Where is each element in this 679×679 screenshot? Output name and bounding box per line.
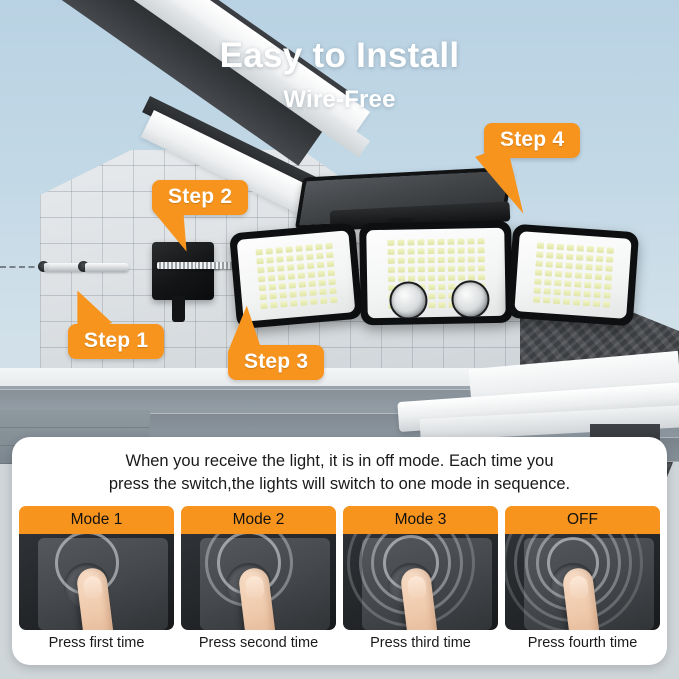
led-chip	[438, 292, 445, 298]
led-chip	[407, 257, 414, 263]
step-3-label: Step 3	[244, 350, 308, 373]
led-chip	[573, 290, 580, 296]
led-chip	[306, 262, 313, 269]
led-chip	[543, 288, 550, 294]
led-chip	[257, 276, 264, 283]
led-chip	[576, 254, 583, 260]
led-chip	[576, 245, 583, 251]
led-chip	[457, 265, 464, 271]
led-chip	[447, 256, 454, 262]
led-chip	[427, 257, 434, 263]
led-chip	[447, 265, 454, 271]
motion-sensor-icon	[389, 281, 428, 318]
led-array-center	[366, 228, 506, 318]
wall-anchor-icon	[85, 263, 129, 272]
led-chip	[387, 257, 394, 263]
led-chip	[478, 274, 485, 280]
led-chip	[299, 290, 306, 297]
mode-tiles: Mode 1 Mode 2	[12, 497, 667, 630]
led-chip	[296, 263, 303, 270]
callout-tail-icon	[230, 304, 272, 354]
step-2-badge: Step 2	[152, 180, 248, 215]
led-chip	[286, 255, 293, 262]
led-chip	[552, 298, 559, 304]
led-chip	[275, 247, 282, 254]
led-chip	[276, 256, 283, 263]
led-chip	[477, 256, 484, 262]
mode-2-caption: Press second time	[181, 635, 336, 651]
step-1-badge: Step 1	[68, 324, 164, 359]
led-chip	[318, 279, 325, 286]
led-chip	[289, 291, 296, 298]
led-chip	[300, 299, 307, 306]
led-chip	[280, 301, 287, 308]
led-chip	[327, 270, 334, 277]
led-chip	[447, 238, 454, 244]
led-chip	[257, 267, 264, 274]
led-chip	[397, 257, 404, 263]
motion-sensor-icon	[451, 280, 490, 318]
led-chip	[438, 274, 445, 280]
off-image	[505, 534, 660, 630]
led-chip	[326, 261, 333, 268]
led-chip	[315, 244, 322, 251]
mode-instruction-panel: When you receive the light, it is in off…	[12, 437, 667, 665]
led-chip	[457, 247, 464, 253]
led-chip	[428, 284, 435, 290]
led-chip	[584, 282, 591, 288]
fingernail	[406, 576, 427, 600]
led-chip	[477, 238, 484, 244]
led-chip	[277, 274, 284, 281]
led-chip	[387, 239, 394, 245]
step-3-badge: Step 3	[228, 345, 324, 380]
led-chip	[269, 293, 276, 300]
led-chip	[398, 275, 405, 281]
led-chip	[572, 299, 579, 305]
led-chip	[574, 281, 581, 287]
led-chip	[306, 253, 313, 260]
led-chip	[553, 289, 560, 295]
off-caption: Press fourth time	[505, 635, 660, 651]
led-chip	[554, 271, 561, 277]
step-4-label: Step 4	[500, 128, 564, 151]
led-chip	[605, 256, 612, 262]
led-chip	[447, 247, 454, 253]
led-chip	[596, 247, 603, 253]
led-chip	[584, 273, 591, 279]
led-chip	[593, 291, 600, 297]
led-chip	[606, 247, 613, 253]
bracket-tab	[172, 296, 185, 322]
led-chip	[268, 284, 275, 291]
led-chip	[604, 283, 611, 289]
page-subtitle: Wire-Free	[0, 86, 679, 114]
mode-3-image	[343, 534, 498, 630]
led-chip	[387, 266, 394, 272]
led-chip	[298, 281, 305, 288]
led-chip	[397, 266, 404, 272]
led-chip	[407, 248, 414, 254]
led-chip	[468, 274, 475, 280]
led-chip	[316, 262, 323, 269]
led-chip	[437, 256, 444, 262]
led-chip	[535, 260, 542, 266]
led-chip	[566, 253, 573, 259]
led-chip	[428, 302, 435, 308]
led-chip	[279, 292, 286, 299]
mode-2-image	[181, 534, 336, 630]
led-chip	[397, 248, 404, 254]
led-chip	[407, 266, 414, 272]
led-chip	[565, 262, 572, 268]
led-chip	[562, 298, 569, 304]
led-chip	[328, 279, 335, 286]
led-chip	[309, 289, 316, 296]
led-chip	[305, 245, 312, 252]
led-chip	[428, 293, 435, 299]
led-chip	[546, 252, 553, 258]
led-chip	[602, 301, 609, 307]
instruction-line-2: press the switch,the lights will switch …	[32, 473, 647, 496]
led-chip	[397, 239, 404, 245]
mode-1-caption: Press first time	[19, 635, 174, 651]
led-chip	[592, 300, 599, 306]
mode-3-header: Mode 3	[343, 506, 498, 534]
led-chip	[457, 238, 464, 244]
led-chip	[585, 264, 592, 270]
led-chip	[296, 254, 303, 261]
led-chip	[288, 282, 295, 289]
led-chip	[297, 272, 304, 279]
mode-tile: OFF	[505, 506, 660, 630]
led-chip	[267, 266, 274, 273]
led-chip	[533, 287, 540, 293]
led-chip	[533, 296, 540, 302]
led-chip	[595, 256, 602, 262]
led-chip	[329, 297, 336, 304]
led-chip	[542, 297, 549, 303]
led-chip	[604, 274, 611, 280]
led-chip	[307, 271, 314, 278]
led-chip	[594, 274, 601, 280]
led-chip	[594, 282, 601, 288]
led-chip	[317, 271, 324, 278]
led-chip	[417, 266, 424, 272]
led-chip	[586, 255, 593, 261]
led-chip	[408, 275, 415, 281]
step-4-badge: Step 4	[484, 123, 580, 158]
led-chip	[437, 238, 444, 244]
led-chip	[319, 288, 326, 295]
led-chip	[308, 280, 315, 287]
mode-tile: Mode 2	[181, 506, 336, 630]
led-chip	[278, 283, 285, 290]
mode-1-header: Mode 1	[19, 506, 174, 534]
led-chip	[534, 269, 541, 275]
fingernail	[244, 576, 265, 600]
led-chip	[544, 270, 551, 276]
led-chip	[387, 248, 394, 254]
lamp-head-right	[507, 224, 639, 327]
led-chip	[448, 274, 455, 280]
led-chip	[457, 256, 464, 262]
page-title: Easy to Install	[0, 36, 679, 76]
led-chip	[418, 275, 425, 281]
step-1-label: Step 1	[84, 329, 148, 352]
led-chip	[417, 248, 424, 254]
led-chip	[320, 297, 327, 304]
led-chip	[564, 271, 571, 277]
product-infographic: Easy to Install Wire-Free Step 1 Step 2 …	[0, 0, 679, 679]
led-chip	[295, 245, 302, 252]
led-chip	[287, 273, 294, 280]
led-chip	[595, 265, 602, 271]
led-chip	[467, 265, 474, 271]
led-chip	[546, 243, 553, 249]
mode-2-header: Mode 2	[181, 506, 336, 534]
led-chip	[277, 265, 284, 272]
led-chip	[586, 246, 593, 252]
led-chip	[554, 280, 561, 286]
led-chip	[388, 275, 395, 281]
led-chip	[265, 248, 272, 255]
led-chip	[417, 257, 424, 263]
mode-tile: Mode 3	[343, 506, 498, 630]
led-chip	[266, 257, 273, 264]
instruction-text: When you receive the light, it is in off…	[12, 437, 667, 497]
led-chip	[534, 278, 541, 284]
mode-3-caption: Press third time	[343, 635, 498, 651]
led-chip	[477, 247, 484, 253]
led-chip	[536, 242, 543, 248]
led-chip	[605, 265, 612, 271]
led-chip	[438, 283, 445, 289]
led-chip	[575, 263, 582, 269]
led-chip	[438, 301, 445, 307]
led-chip	[582, 300, 589, 306]
led-chip	[427, 239, 434, 245]
fingernail	[568, 576, 589, 600]
led-chip	[477, 265, 484, 271]
led-chip	[437, 265, 444, 271]
led-chip	[467, 247, 474, 253]
led-chip	[286, 264, 293, 271]
led-chip	[556, 244, 563, 250]
led-chip	[259, 294, 266, 301]
led-chip	[566, 244, 573, 250]
led-chip	[329, 288, 336, 295]
led-chip	[256, 258, 263, 265]
led-chip	[556, 253, 563, 259]
led-chip	[325, 243, 332, 250]
led-chip	[417, 239, 424, 245]
led-chip	[270, 302, 277, 309]
led-chip	[545, 261, 552, 267]
led-chip	[536, 251, 543, 257]
led-chip	[544, 279, 551, 285]
led-chip	[428, 275, 435, 281]
step-2-label: Step 2	[168, 185, 232, 208]
led-chip	[310, 298, 317, 305]
mode-captions: Press first time Press second time Press…	[12, 630, 667, 651]
led-chip	[255, 249, 262, 256]
led-chip	[458, 274, 465, 280]
led-chip	[564, 280, 571, 286]
lamp-head-center	[359, 221, 513, 326]
led-chip	[326, 252, 333, 259]
led-chip	[467, 238, 474, 244]
led-chip	[427, 266, 434, 272]
led-chip	[574, 272, 581, 278]
mode-tile: Mode 1	[19, 506, 174, 630]
led-array-right	[514, 231, 631, 319]
led-chip	[290, 300, 297, 307]
led-chip	[603, 292, 610, 298]
led-chip	[555, 262, 562, 268]
led-chip	[407, 239, 414, 245]
instruction-line-1: When you receive the light, it is in off…	[32, 450, 647, 473]
led-chip	[267, 275, 274, 282]
led-chip	[437, 247, 444, 253]
led-chip	[258, 285, 265, 292]
off-header: OFF	[505, 506, 660, 534]
led-chip	[285, 246, 292, 253]
led-chip	[427, 248, 434, 254]
led-chip	[467, 256, 474, 262]
mode-1-image	[19, 534, 174, 630]
led-chip	[563, 289, 570, 295]
led-chip	[583, 291, 590, 297]
fingernail	[82, 576, 103, 600]
led-chip	[316, 253, 323, 260]
